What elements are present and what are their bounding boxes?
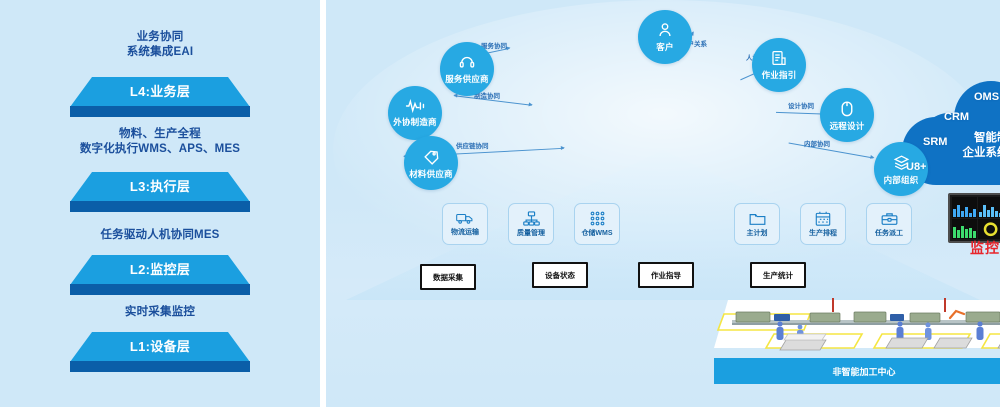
function-card-master-plan[interactable]: 主计划 (734, 203, 780, 245)
workshop-zone-bar: 非智能加工中心 智能加工中心 线边仓 (714, 358, 1000, 384)
orbit-node-remote-design-label: 远程设计 (830, 120, 865, 132)
function-card-task-dispatch-label: 任务派工 (875, 228, 903, 238)
function-card-scheduling-label: 生产排程 (809, 228, 837, 238)
function-card-task-dispatch[interactable]: 任务派工 (866, 203, 912, 245)
layer-caption-l2-line1: 任务驱动人机协同MES (0, 228, 320, 243)
layer-caption-l4-line1: 业务协同 (0, 30, 320, 45)
function-card-scheduling[interactable]: 生产排程 (800, 203, 846, 245)
function-card-quality-label: 质量管理 (517, 228, 545, 238)
layer-caption-l3-line2: 数字化执行WMS、APS、MES (0, 142, 320, 157)
function-card-quality[interactable]: 质量管理 (508, 203, 554, 245)
floor-sign-production-stats[interactable]: 生产统计 (750, 262, 806, 288)
toolbox-icon (881, 211, 898, 226)
zone-non-smart-center[interactable]: 非智能加工中心 (714, 358, 1000, 384)
dashboard-panel (978, 219, 1000, 240)
cloud-module-crm[interactable]: CRM (944, 111, 969, 123)
orbit-node-internal-org-label: 内部组织 (884, 174, 919, 186)
function-card-warehouse[interactable]: 仓储WMS (574, 203, 620, 245)
floor-sign-work-guidance-label: 作业指导 (651, 270, 681, 281)
cloud-title-line2: 企业系统平台 (902, 146, 1000, 161)
document-icon (770, 49, 788, 67)
function-card-logistics-label: 物流运输 (451, 227, 479, 237)
layer-slab-l4-base (70, 106, 250, 117)
monitoring-dashboard[interactable] (948, 193, 1000, 243)
dashboard-panel (952, 219, 977, 240)
dashboard-panel (952, 197, 977, 218)
layer-caption-l3-line1: 物料、生产全程 (0, 127, 320, 142)
floor-sign-equipment-status-label: 设备状态 (545, 270, 575, 281)
floor-sign-equipment-status[interactable]: 设备状态 (532, 262, 588, 288)
sign-post (944, 298, 946, 312)
tags-icon (422, 147, 441, 166)
right-panel-platform-diagram: 服务协同 制造协同 供应链协同 客户关系 人机协同 设计协同 内部协同 OMS … (326, 0, 1000, 407)
floor-sign-data-collection-label: 数据采集 (433, 272, 463, 283)
layer-slab-l1-label: L1:设备层 (70, 336, 250, 355)
sign-post (832, 298, 834, 312)
cloud-module-oms[interactable]: OMS (974, 91, 999, 103)
connector-label-design: 设计协同 (788, 100, 814, 110)
layer-slab-l4-label: L4:业务层 (70, 81, 250, 100)
diagram-root: 业务协同 系统集成EAI L4:业务层 物料、生产全程 数字化执行WMS、APS… (0, 0, 1000, 407)
factory-illustration (714, 300, 1000, 362)
layer-slab-l1[interactable]: L1:设备层 (70, 332, 250, 376)
layer-slab-l2[interactable]: L2:监控层 (70, 255, 250, 299)
orbit-node-work-instruction-label: 作业指引 (762, 69, 797, 81)
user-icon (656, 21, 674, 39)
mouse-icon (839, 99, 855, 118)
floor-sign-production-stats-label: 生产统计 (763, 270, 793, 281)
orbit-node-remote-design[interactable]: 远程设计 (820, 88, 874, 142)
layer-slab-l3-base (70, 201, 250, 212)
orbit-node-outsourced-manufacturer[interactable]: 外协制造商 (388, 86, 442, 140)
connector-label-internal: 内部协同 (804, 138, 830, 148)
layer-caption-l2: 任务驱动人机协同MES (0, 228, 320, 243)
cloud-title-line1: 智能制造 (902, 131, 1000, 146)
factory-floor (714, 300, 1000, 362)
pulse-icon (405, 98, 425, 114)
grid-dots-icon (589, 211, 606, 226)
orbit-node-service-supplier-label: 服务供应商 (445, 73, 489, 85)
floor-sign-data-collection[interactable]: 数据采集 (420, 264, 476, 290)
cloud-module-u8plus[interactable]: U8+ (906, 161, 927, 173)
truck-icon (456, 211, 474, 225)
layer-slab-l3[interactable]: L3:执行层 (70, 172, 250, 216)
cloud-title: 智能制造 企业系统平台 (902, 131, 1000, 161)
layer-slab-l3-label: L3:执行层 (70, 176, 250, 195)
orbit-node-service-supplier[interactable]: 服务供应商 (440, 42, 494, 96)
hierarchy-icon (523, 211, 540, 226)
layer-caption-l4-line2: 系统集成EAI (0, 45, 320, 60)
layer-caption-l4: 业务协同 系统集成EAI (0, 30, 320, 60)
layer-slab-l4[interactable]: L4:业务层 (70, 77, 250, 121)
cloud-platform[interactable]: OMS CRM MES SRM PLM OA U8+ 智能制造 企业系统平台 (902, 73, 1000, 185)
headset-icon (458, 53, 476, 71)
layer-caption-l1-line1: 实时采集监控 (0, 305, 320, 320)
zone-non-smart-center-label: 非智能加工中心 (832, 365, 895, 378)
function-card-logistics[interactable]: 物流运输 (442, 203, 488, 245)
dashboard-panel (978, 197, 1000, 218)
orbit-node-work-instruction[interactable]: 作业指引 (752, 38, 806, 92)
layer-slab-l1-base (70, 361, 250, 372)
orbit-node-material-supplier-label: 材料供应商 (409, 168, 453, 180)
floor-sign-work-guidance[interactable]: 作业指导 (638, 262, 694, 288)
orbit-node-customer-label: 客户 (656, 41, 673, 53)
function-card-warehouse-label: 仓储WMS (581, 228, 612, 238)
function-card-master-plan-label: 主计划 (747, 228, 768, 238)
layer-caption-l1: 实时采集监控 (0, 305, 320, 320)
orbit-node-material-supplier[interactable]: 材料供应商 (404, 136, 458, 190)
left-panel-layer-stack: 业务协同 系统集成EAI L4:业务层 物料、生产全程 数字化执行WMS、APS… (0, 0, 320, 407)
calendar-icon (815, 211, 831, 226)
folder-icon (749, 211, 766, 226)
monitoring-center-label: 监控中心 (922, 238, 1000, 258)
orbit-node-outsourced-manufacturer-label: 外协制造商 (393, 116, 437, 128)
layer-slab-l2-base (70, 284, 250, 295)
connector-label-supplychain: 供应链协同 (456, 140, 489, 150)
layer-slab-l2-label: L2:监控层 (70, 259, 250, 278)
orbit-node-customer[interactable]: 客户 (638, 10, 692, 64)
layer-caption-l3: 物料、生产全程 数字化执行WMS、APS、MES (0, 127, 320, 157)
